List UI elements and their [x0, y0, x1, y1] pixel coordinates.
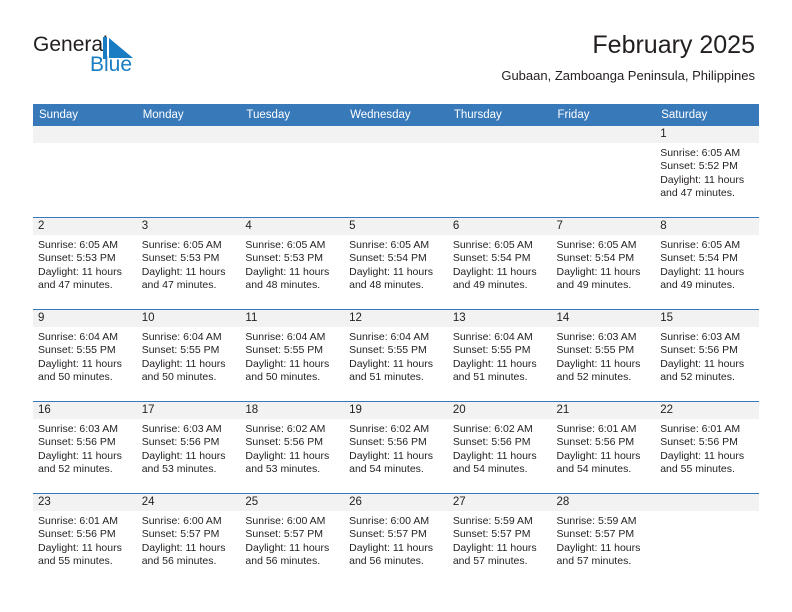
daylight-text-line1: Daylight: 11 hours: [660, 174, 754, 187]
weekday-header-thursday: Thursday: [448, 104, 552, 126]
weekday-header-monday: Monday: [137, 104, 241, 126]
daylight-text-line2: and 47 minutes.: [142, 279, 236, 292]
sunrise-text: Sunrise: 6:02 AM: [349, 423, 443, 436]
daylight-text-line1: Daylight: 11 hours: [38, 266, 132, 279]
day-details: [344, 143, 448, 147]
day-cell-inner: [33, 126, 137, 217]
sunset-text: Sunset: 5:56 PM: [38, 436, 132, 449]
day-cell-inner: 16Sunrise: 6:03 AMSunset: 5:56 PMDayligh…: [33, 402, 137, 493]
daylight-text-line1: Daylight: 11 hours: [245, 542, 339, 555]
day-cell-inner: 15Sunrise: 6:03 AMSunset: 5:56 PMDayligh…: [655, 310, 759, 401]
sunrise-text: Sunrise: 6:04 AM: [453, 331, 547, 344]
daylight-text-line2: and 49 minutes.: [557, 279, 651, 292]
day-details: Sunrise: 6:01 AMSunset: 5:56 PMDaylight:…: [655, 419, 759, 477]
day-number: 23: [33, 494, 137, 511]
day-number: 25: [240, 494, 344, 511]
day-details: Sunrise: 6:02 AMSunset: 5:56 PMDaylight:…: [344, 419, 448, 477]
day-number: 6: [448, 218, 552, 235]
day-number: [552, 126, 656, 143]
daylight-text-line2: and 55 minutes.: [38, 555, 132, 568]
sunrise-text: Sunrise: 6:05 AM: [557, 239, 651, 252]
daylight-text-line2: and 51 minutes.: [349, 371, 443, 384]
sunrise-text: Sunrise: 6:02 AM: [245, 423, 339, 436]
sunset-text: Sunset: 5:56 PM: [660, 344, 754, 357]
daylight-text-line2: and 48 minutes.: [349, 279, 443, 292]
daylight-text-line2: and 56 minutes.: [349, 555, 443, 568]
daylight-text-line2: and 53 minutes.: [245, 463, 339, 476]
calendar-day-cell[interactable]: 1Sunrise: 6:05 AMSunset: 5:52 PMDaylight…: [655, 126, 759, 218]
calendar-day-cell[interactable]: [448, 126, 552, 218]
sunset-text: Sunset: 5:56 PM: [38, 528, 132, 541]
daylight-text-line1: Daylight: 11 hours: [142, 358, 236, 371]
calendar-day-cell[interactable]: [240, 126, 344, 218]
daylight-text-line1: Daylight: 11 hours: [349, 542, 443, 555]
daylight-text-line1: Daylight: 11 hours: [245, 266, 339, 279]
day-number: 21: [552, 402, 656, 419]
calendar-week-row: 9Sunrise: 6:04 AMSunset: 5:55 PMDaylight…: [33, 310, 759, 402]
weekday-header-sunday: Sunday: [33, 104, 137, 126]
calendar-day-cell[interactable]: 23Sunrise: 6:01 AMSunset: 5:56 PMDayligh…: [33, 494, 137, 586]
day-cell-inner: 27Sunrise: 5:59 AMSunset: 5:57 PMDayligh…: [448, 494, 552, 585]
calendar-day-cell[interactable]: 22Sunrise: 6:01 AMSunset: 5:56 PMDayligh…: [655, 402, 759, 494]
sunrise-text: Sunrise: 5:59 AM: [557, 515, 651, 528]
sunrise-text: Sunrise: 6:05 AM: [660, 147, 754, 160]
sunrise-text: Sunrise: 6:05 AM: [142, 239, 236, 252]
sunset-text: Sunset: 5:56 PM: [453, 436, 547, 449]
daylight-text-line1: Daylight: 11 hours: [349, 450, 443, 463]
sunrise-text: Sunrise: 6:00 AM: [245, 515, 339, 528]
calendar-day-cell[interactable]: 13Sunrise: 6:04 AMSunset: 5:55 PMDayligh…: [448, 310, 552, 402]
calendar-day-cell[interactable]: 20Sunrise: 6:02 AMSunset: 5:56 PMDayligh…: [448, 402, 552, 494]
day-number: 17: [137, 402, 241, 419]
calendar-day-cell[interactable]: 16Sunrise: 6:03 AMSunset: 5:56 PMDayligh…: [33, 402, 137, 494]
day-cell-inner: 2Sunrise: 6:05 AMSunset: 5:53 PMDaylight…: [33, 218, 137, 309]
daylight-text-line2: and 52 minutes.: [660, 371, 754, 384]
day-cell-inner: 28Sunrise: 5:59 AMSunset: 5:57 PMDayligh…: [552, 494, 656, 585]
day-details: Sunrise: 6:05 AMSunset: 5:54 PMDaylight:…: [552, 235, 656, 293]
sunrise-text: Sunrise: 6:05 AM: [349, 239, 443, 252]
calendar-day-cell[interactable]: 3Sunrise: 6:05 AMSunset: 5:53 PMDaylight…: [137, 218, 241, 310]
daylight-text-line2: and 50 minutes.: [245, 371, 339, 384]
day-number: 2: [33, 218, 137, 235]
day-cell-inner: 17Sunrise: 6:03 AMSunset: 5:56 PMDayligh…: [137, 402, 241, 493]
day-cell-inner: 23Sunrise: 6:01 AMSunset: 5:56 PMDayligh…: [33, 494, 137, 585]
day-cell-inner: [240, 126, 344, 217]
day-cell-inner: 11Sunrise: 6:04 AMSunset: 5:55 PMDayligh…: [240, 310, 344, 401]
calendar-body: 1Sunrise: 6:05 AMSunset: 5:52 PMDaylight…: [33, 126, 759, 585]
weekday-header-friday: Friday: [552, 104, 656, 126]
day-cell-inner: 7Sunrise: 6:05 AMSunset: 5:54 PMDaylight…: [552, 218, 656, 309]
daylight-text-line2: and 52 minutes.: [38, 463, 132, 476]
daylight-text-line1: Daylight: 11 hours: [142, 450, 236, 463]
day-number: 9: [33, 310, 137, 327]
title-block: February 2025 Gubaan, Zamboanga Peninsul…: [501, 30, 755, 85]
sunrise-text: Sunrise: 6:03 AM: [142, 423, 236, 436]
sunset-text: Sunset: 5:56 PM: [349, 436, 443, 449]
calendar-day-cell[interactable]: [344, 126, 448, 218]
day-cell-inner: 12Sunrise: 6:04 AMSunset: 5:55 PMDayligh…: [344, 310, 448, 401]
day-details: Sunrise: 6:02 AMSunset: 5:56 PMDaylight:…: [240, 419, 344, 477]
daylight-text-line1: Daylight: 11 hours: [557, 450, 651, 463]
day-cell-inner: 18Sunrise: 6:02 AMSunset: 5:56 PMDayligh…: [240, 402, 344, 493]
sunset-text: Sunset: 5:55 PM: [349, 344, 443, 357]
day-cell-inner: 25Sunrise: 6:00 AMSunset: 5:57 PMDayligh…: [240, 494, 344, 585]
day-number: [33, 126, 137, 143]
day-details: Sunrise: 6:05 AMSunset: 5:53 PMDaylight:…: [137, 235, 241, 293]
sunset-text: Sunset: 5:54 PM: [557, 252, 651, 265]
sunset-text: Sunset: 5:56 PM: [557, 436, 651, 449]
calendar-day-cell[interactable]: 19Sunrise: 6:02 AMSunset: 5:56 PMDayligh…: [344, 402, 448, 494]
daylight-text-line2: and 55 minutes.: [660, 463, 754, 476]
day-number: 3: [137, 218, 241, 235]
sunrise-text: Sunrise: 6:04 AM: [142, 331, 236, 344]
day-number: 15: [655, 310, 759, 327]
day-details: Sunrise: 6:01 AMSunset: 5:56 PMDaylight:…: [552, 419, 656, 477]
calendar-day-cell[interactable]: 10Sunrise: 6:04 AMSunset: 5:55 PMDayligh…: [137, 310, 241, 402]
page-subtitle: Gubaan, Zamboanga Peninsula, Philippines: [501, 67, 755, 85]
sunset-text: Sunset: 5:53 PM: [245, 252, 339, 265]
day-details: Sunrise: 6:04 AMSunset: 5:55 PMDaylight:…: [137, 327, 241, 385]
sunrise-text: Sunrise: 6:03 AM: [660, 331, 754, 344]
daylight-text-line2: and 57 minutes.: [453, 555, 547, 568]
day-number: 19: [344, 402, 448, 419]
day-details: Sunrise: 6:05 AMSunset: 5:53 PMDaylight:…: [33, 235, 137, 293]
daylight-text-line1: Daylight: 11 hours: [38, 358, 132, 371]
day-number: 28: [552, 494, 656, 511]
daylight-text-line2: and 52 minutes.: [557, 371, 651, 384]
sunset-text: Sunset: 5:54 PM: [660, 252, 754, 265]
daylight-text-line1: Daylight: 11 hours: [142, 266, 236, 279]
day-number: 12: [344, 310, 448, 327]
sunrise-text: Sunrise: 6:04 AM: [349, 331, 443, 344]
daylight-text-line1: Daylight: 11 hours: [557, 358, 651, 371]
calendar-day-cell[interactable]: [655, 494, 759, 586]
day-details: Sunrise: 6:04 AMSunset: 5:55 PMDaylight:…: [344, 327, 448, 385]
day-details: Sunrise: 6:03 AMSunset: 5:56 PMDaylight:…: [655, 327, 759, 385]
day-details: Sunrise: 6:03 AMSunset: 5:56 PMDaylight:…: [33, 419, 137, 477]
day-details: Sunrise: 6:05 AMSunset: 5:54 PMDaylight:…: [448, 235, 552, 293]
sunrise-text: Sunrise: 6:01 AM: [557, 423, 651, 436]
day-details: Sunrise: 6:00 AMSunset: 5:57 PMDaylight:…: [137, 511, 241, 569]
day-details: Sunrise: 6:02 AMSunset: 5:56 PMDaylight:…: [448, 419, 552, 477]
day-details: Sunrise: 6:01 AMSunset: 5:56 PMDaylight:…: [33, 511, 137, 569]
daylight-text-line2: and 49 minutes.: [660, 279, 754, 292]
day-details: Sunrise: 6:00 AMSunset: 5:57 PMDaylight:…: [344, 511, 448, 569]
sunrise-text: Sunrise: 6:05 AM: [38, 239, 132, 252]
sunset-text: Sunset: 5:57 PM: [453, 528, 547, 541]
calendar-day-cell[interactable]: 28Sunrise: 5:59 AMSunset: 5:57 PMDayligh…: [552, 494, 656, 586]
daylight-text-line2: and 47 minutes.: [38, 279, 132, 292]
weekday-header-wednesday: Wednesday: [344, 104, 448, 126]
calendar-day-cell[interactable]: 17Sunrise: 6:03 AMSunset: 5:56 PMDayligh…: [137, 402, 241, 494]
day-cell-inner: [448, 126, 552, 217]
daylight-text-line1: Daylight: 11 hours: [38, 450, 132, 463]
sunrise-text: Sunrise: 6:05 AM: [453, 239, 547, 252]
day-cell-inner: 22Sunrise: 6:01 AMSunset: 5:56 PMDayligh…: [655, 402, 759, 493]
day-cell-inner: 8Sunrise: 6:05 AMSunset: 5:54 PMDaylight…: [655, 218, 759, 309]
day-number: [344, 126, 448, 143]
day-number: [240, 126, 344, 143]
sunset-text: Sunset: 5:57 PM: [142, 528, 236, 541]
weekday-header-row: Sunday Monday Tuesday Wednesday Thursday…: [33, 104, 759, 126]
day-cell-inner: [344, 126, 448, 217]
daylight-text-line2: and 50 minutes.: [38, 371, 132, 384]
calendar-day-cell[interactable]: 25Sunrise: 6:00 AMSunset: 5:57 PMDayligh…: [240, 494, 344, 586]
calendar-day-cell[interactable]: 6Sunrise: 6:05 AMSunset: 5:54 PMDaylight…: [448, 218, 552, 310]
sunrise-text: Sunrise: 5:59 AM: [453, 515, 547, 528]
day-cell-inner: 19Sunrise: 6:02 AMSunset: 5:56 PMDayligh…: [344, 402, 448, 493]
day-details: Sunrise: 6:05 AMSunset: 5:52 PMDaylight:…: [655, 143, 759, 201]
day-number: 11: [240, 310, 344, 327]
calendar-day-cell[interactable]: 24Sunrise: 6:00 AMSunset: 5:57 PMDayligh…: [137, 494, 241, 586]
sunset-text: Sunset: 5:56 PM: [660, 436, 754, 449]
day-cell-inner: 1Sunrise: 6:05 AMSunset: 5:52 PMDaylight…: [655, 126, 759, 217]
sunrise-text: Sunrise: 6:01 AM: [38, 515, 132, 528]
daylight-text-line2: and 50 minutes.: [142, 371, 236, 384]
daylight-text-line2: and 47 minutes.: [660, 187, 754, 200]
day-cell-inner: 26Sunrise: 6:00 AMSunset: 5:57 PMDayligh…: [344, 494, 448, 585]
day-details: Sunrise: 5:59 AMSunset: 5:57 PMDaylight:…: [552, 511, 656, 569]
calendar-day-cell[interactable]: 2Sunrise: 6:05 AMSunset: 5:53 PMDaylight…: [33, 218, 137, 310]
daylight-text-line1: Daylight: 11 hours: [245, 358, 339, 371]
sunrise-text: Sunrise: 6:01 AM: [660, 423, 754, 436]
general-blue-logo[interactable]: General Blue: [33, 33, 153, 81]
sunset-text: Sunset: 5:54 PM: [349, 252, 443, 265]
daylight-text-line1: Daylight: 11 hours: [453, 266, 547, 279]
daylight-text-line2: and 53 minutes.: [142, 463, 236, 476]
day-number: 20: [448, 402, 552, 419]
sunset-text: Sunset: 5:54 PM: [453, 252, 547, 265]
calendar-day-cell[interactable]: 5Sunrise: 6:05 AMSunset: 5:54 PMDaylight…: [344, 218, 448, 310]
sunrise-text: Sunrise: 6:05 AM: [245, 239, 339, 252]
page-header: General Blue February 2025 Gubaan, Zambo…: [0, 0, 792, 72]
sunrise-text: Sunrise: 6:03 AM: [38, 423, 132, 436]
day-details: Sunrise: 6:03 AMSunset: 5:55 PMDaylight:…: [552, 327, 656, 385]
calendar-page: General Blue February 2025 Gubaan, Zambo…: [0, 0, 792, 612]
daylight-text-line1: Daylight: 11 hours: [245, 450, 339, 463]
sunset-text: Sunset: 5:53 PM: [142, 252, 236, 265]
sunset-text: Sunset: 5:57 PM: [349, 528, 443, 541]
day-cell-inner: 5Sunrise: 6:05 AMSunset: 5:54 PMDaylight…: [344, 218, 448, 309]
daylight-text-line2: and 56 minutes.: [142, 555, 236, 568]
sunset-text: Sunset: 5:55 PM: [557, 344, 651, 357]
calendar-day-cell[interactable]: 8Sunrise: 6:05 AMSunset: 5:54 PMDaylight…: [655, 218, 759, 310]
calendar-day-cell[interactable]: 18Sunrise: 6:02 AMSunset: 5:56 PMDayligh…: [240, 402, 344, 494]
calendar-week-row: 23Sunrise: 6:01 AMSunset: 5:56 PMDayligh…: [33, 494, 759, 586]
sunrise-text: Sunrise: 6:02 AM: [453, 423, 547, 436]
sunset-text: Sunset: 5:53 PM: [38, 252, 132, 265]
sunset-text: Sunset: 5:55 PM: [245, 344, 339, 357]
sunset-text: Sunset: 5:57 PM: [557, 528, 651, 541]
day-number: 5: [344, 218, 448, 235]
sunrise-text: Sunrise: 6:05 AM: [660, 239, 754, 252]
daylight-text-line1: Daylight: 11 hours: [660, 450, 754, 463]
daylight-text-line2: and 54 minutes.: [557, 463, 651, 476]
day-number: 10: [137, 310, 241, 327]
day-details: [655, 511, 759, 515]
daylight-text-line2: and 57 minutes.: [557, 555, 651, 568]
day-number: 4: [240, 218, 344, 235]
sunrise-text: Sunrise: 6:00 AM: [349, 515, 443, 528]
day-number: [448, 126, 552, 143]
calendar-day-cell[interactable]: [33, 126, 137, 218]
logo-text-blue: Blue: [90, 53, 132, 77]
day-cell-inner: 21Sunrise: 6:01 AMSunset: 5:56 PMDayligh…: [552, 402, 656, 493]
day-cell-inner: 4Sunrise: 6:05 AMSunset: 5:53 PMDaylight…: [240, 218, 344, 309]
daylight-text-line1: Daylight: 11 hours: [660, 358, 754, 371]
calendar-week-row: 1Sunrise: 6:05 AMSunset: 5:52 PMDaylight…: [33, 126, 759, 218]
sunset-text: Sunset: 5:56 PM: [142, 436, 236, 449]
day-details: Sunrise: 6:03 AMSunset: 5:56 PMDaylight:…: [137, 419, 241, 477]
page-title: February 2025: [501, 30, 755, 60]
day-details: Sunrise: 6:05 AMSunset: 5:54 PMDaylight:…: [655, 235, 759, 293]
day-number: 14: [552, 310, 656, 327]
calendar-day-cell[interactable]: 27Sunrise: 5:59 AMSunset: 5:57 PMDayligh…: [448, 494, 552, 586]
daylight-text-line1: Daylight: 11 hours: [557, 542, 651, 555]
daylight-text-line1: Daylight: 11 hours: [142, 542, 236, 555]
day-details: Sunrise: 6:04 AMSunset: 5:55 PMDaylight:…: [33, 327, 137, 385]
daylight-text-line2: and 54 minutes.: [349, 463, 443, 476]
calendar-week-row: 16Sunrise: 6:03 AMSunset: 5:56 PMDayligh…: [33, 402, 759, 494]
day-details: Sunrise: 6:05 AMSunset: 5:54 PMDaylight:…: [344, 235, 448, 293]
day-number: 24: [137, 494, 241, 511]
day-cell-inner: [552, 126, 656, 217]
day-cell-inner: [655, 494, 759, 585]
daylight-text-line1: Daylight: 11 hours: [349, 266, 443, 279]
calendar-day-cell[interactable]: [552, 126, 656, 218]
sunrise-text: Sunrise: 6:04 AM: [245, 331, 339, 344]
daylight-text-line1: Daylight: 11 hours: [453, 358, 547, 371]
calendar-day-cell[interactable]: 4Sunrise: 6:05 AMSunset: 5:53 PMDaylight…: [240, 218, 344, 310]
calendar-grid: Sunday Monday Tuesday Wednesday Thursday…: [33, 104, 759, 585]
calendar-day-cell[interactable]: 15Sunrise: 6:03 AMSunset: 5:56 PMDayligh…: [655, 310, 759, 402]
day-cell-inner: 14Sunrise: 6:03 AMSunset: 5:55 PMDayligh…: [552, 310, 656, 401]
sunrise-text: Sunrise: 6:03 AM: [557, 331, 651, 344]
day-number: 18: [240, 402, 344, 419]
weekday-header-tuesday: Tuesday: [240, 104, 344, 126]
day-number: [655, 494, 759, 511]
sunset-text: Sunset: 5:56 PM: [245, 436, 339, 449]
day-details: Sunrise: 5:59 AMSunset: 5:57 PMDaylight:…: [448, 511, 552, 569]
day-number: 8: [655, 218, 759, 235]
day-cell-inner: 6Sunrise: 6:05 AMSunset: 5:54 PMDaylight…: [448, 218, 552, 309]
sunset-text: Sunset: 5:55 PM: [38, 344, 132, 357]
daylight-text-line1: Daylight: 11 hours: [453, 450, 547, 463]
day-cell-inner: 20Sunrise: 6:02 AMSunset: 5:56 PMDayligh…: [448, 402, 552, 493]
calendar-day-cell[interactable]: 26Sunrise: 6:00 AMSunset: 5:57 PMDayligh…: [344, 494, 448, 586]
day-number: 13: [448, 310, 552, 327]
sunset-text: Sunset: 5:57 PM: [245, 528, 339, 541]
sunset-text: Sunset: 5:52 PM: [660, 160, 754, 173]
daylight-text-line1: Daylight: 11 hours: [557, 266, 651, 279]
calendar-day-cell[interactable]: 7Sunrise: 6:05 AMSunset: 5:54 PMDaylight…: [552, 218, 656, 310]
calendar-day-cell[interactable]: [137, 126, 241, 218]
daylight-text-line1: Daylight: 11 hours: [453, 542, 547, 555]
day-cell-inner: 13Sunrise: 6:04 AMSunset: 5:55 PMDayligh…: [448, 310, 552, 401]
daylight-text-line2: and 56 minutes.: [245, 555, 339, 568]
sunrise-text: Sunrise: 6:00 AM: [142, 515, 236, 528]
daylight-text-line1: Daylight: 11 hours: [660, 266, 754, 279]
day-number: 7: [552, 218, 656, 235]
day-details: Sunrise: 6:05 AMSunset: 5:53 PMDaylight:…: [240, 235, 344, 293]
daylight-text-line1: Daylight: 11 hours: [349, 358, 443, 371]
weekday-header-saturday: Saturday: [655, 104, 759, 126]
sunrise-text: Sunrise: 6:04 AM: [38, 331, 132, 344]
day-cell-inner: 3Sunrise: 6:05 AMSunset: 5:53 PMDaylight…: [137, 218, 241, 309]
day-details: [240, 143, 344, 147]
day-number: [137, 126, 241, 143]
day-details: Sunrise: 6:04 AMSunset: 5:55 PMDaylight:…: [240, 327, 344, 385]
sunset-text: Sunset: 5:55 PM: [142, 344, 236, 357]
daylight-text-line2: and 48 minutes.: [245, 279, 339, 292]
daylight-text-line2: and 51 minutes.: [453, 371, 547, 384]
calendar-day-cell[interactable]: 21Sunrise: 6:01 AMSunset: 5:56 PMDayligh…: [552, 402, 656, 494]
day-cell-inner: [137, 126, 241, 217]
day-details: Sunrise: 6:04 AMSunset: 5:55 PMDaylight:…: [448, 327, 552, 385]
day-details: Sunrise: 6:00 AMSunset: 5:57 PMDaylight:…: [240, 511, 344, 569]
day-number: 16: [33, 402, 137, 419]
sunset-text: Sunset: 5:55 PM: [453, 344, 547, 357]
calendar-day-cell[interactable]: 12Sunrise: 6:04 AMSunset: 5:55 PMDayligh…: [344, 310, 448, 402]
daylight-text-line2: and 54 minutes.: [453, 463, 547, 476]
daylight-text-line2: and 49 minutes.: [453, 279, 547, 292]
day-details: [448, 143, 552, 147]
day-cell-inner: 24Sunrise: 6:00 AMSunset: 5:57 PMDayligh…: [137, 494, 241, 585]
day-details: [137, 143, 241, 147]
day-number: 26: [344, 494, 448, 511]
day-cell-inner: 9Sunrise: 6:04 AMSunset: 5:55 PMDaylight…: [33, 310, 137, 401]
calendar-day-cell[interactable]: 14Sunrise: 6:03 AMSunset: 5:55 PMDayligh…: [552, 310, 656, 402]
calendar-week-row: 2Sunrise: 6:05 AMSunset: 5:53 PMDaylight…: [33, 218, 759, 310]
day-cell-inner: 10Sunrise: 6:04 AMSunset: 5:55 PMDayligh…: [137, 310, 241, 401]
day-details: [33, 143, 137, 147]
day-number: 1: [655, 126, 759, 143]
daylight-text-line1: Daylight: 11 hours: [38, 542, 132, 555]
day-number: 27: [448, 494, 552, 511]
day-number: 22: [655, 402, 759, 419]
calendar-day-cell[interactable]: 11Sunrise: 6:04 AMSunset: 5:55 PMDayligh…: [240, 310, 344, 402]
day-details: [552, 143, 656, 147]
calendar-day-cell[interactable]: 9Sunrise: 6:04 AMSunset: 5:55 PMDaylight…: [33, 310, 137, 402]
